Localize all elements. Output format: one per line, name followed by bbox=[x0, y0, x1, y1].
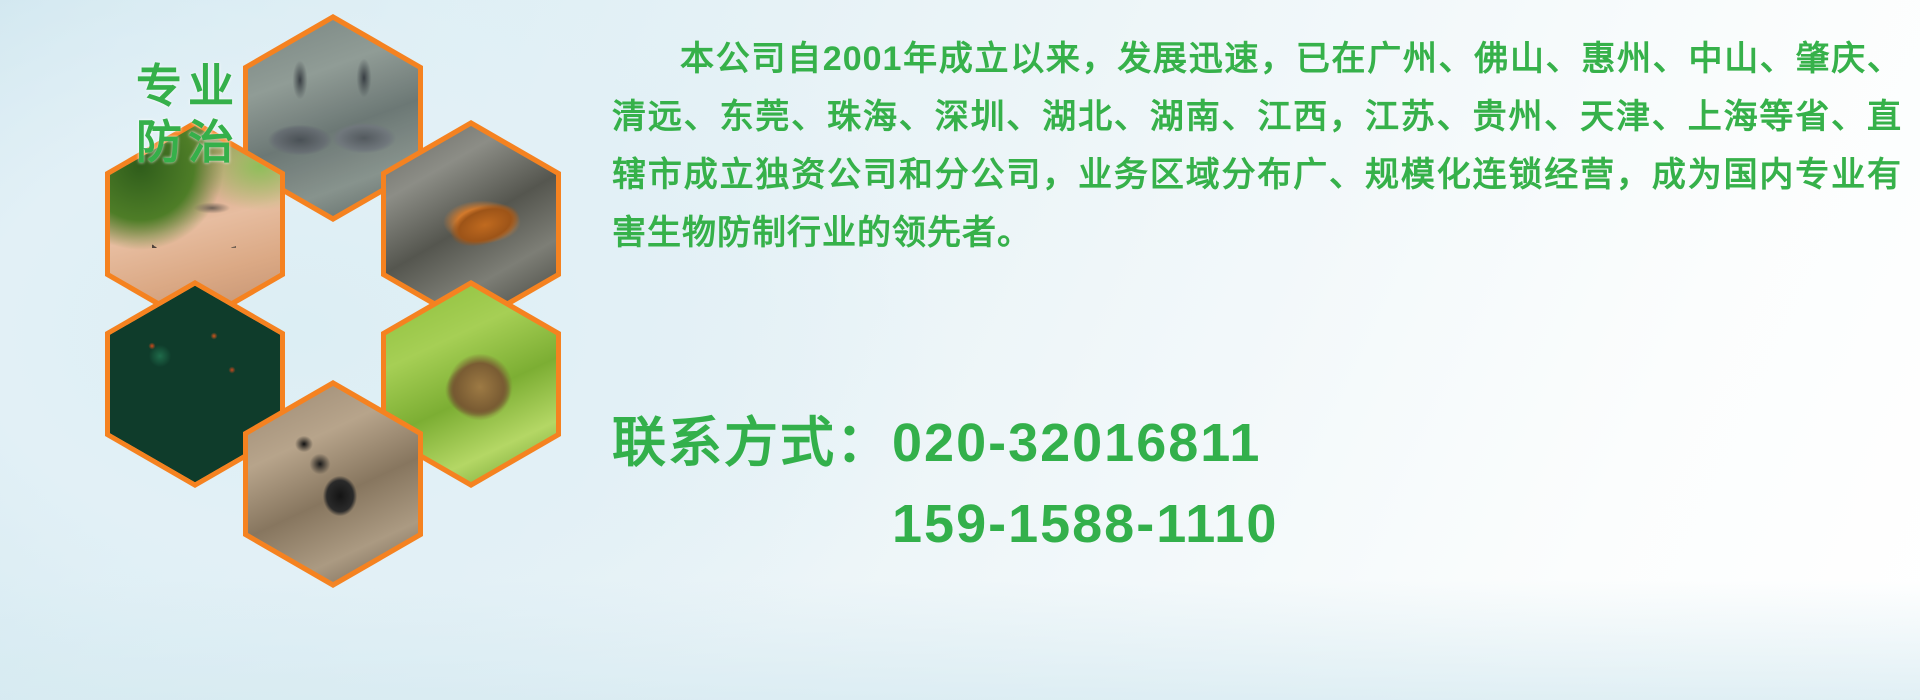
contact-primary-line: 联系方式：020-32016811 bbox=[612, 398, 1902, 477]
hex-center-slogan: 专业 防治 bbox=[95, 10, 275, 218]
promo-banner: 专业 防治 本公司自2001年成立以来，发展迅速，已在广州、佛山、惠州、中山、肇… bbox=[0, 0, 1920, 700]
company-description-paragraph: 本公司自2001年成立以来，发展迅速，已在广州、佛山、惠州、中山、肇庆、清远、东… bbox=[612, 30, 1902, 262]
contact-label: 联系方式： bbox=[612, 413, 892, 473]
hex-image-frame-ant bbox=[248, 386, 418, 582]
contact-block: 联系方式：020-32016811 159-1588-1110 bbox=[612, 398, 1902, 555]
contact-phone-secondary[interactable]: 159-1588-1110 bbox=[892, 494, 1278, 554]
company-description: 本公司自2001年成立以来，发展迅速，已在广州、佛山、惠州、中山、肇庆、清远、东… bbox=[612, 30, 1902, 262]
slogan-line-2: 防治 bbox=[130, 114, 240, 170]
contact-phone-primary[interactable]: 020-32016811 bbox=[892, 413, 1261, 473]
slogan-text: 专业 防治 bbox=[95, 10, 275, 218]
hexagon-photo-cluster: 专业 防治 bbox=[95, 10, 595, 570]
contact-secondary-line: 159-1588-1110 bbox=[612, 493, 1902, 555]
ant-photo-icon bbox=[248, 386, 418, 582]
slogan-line-1: 专业 bbox=[130, 58, 240, 114]
